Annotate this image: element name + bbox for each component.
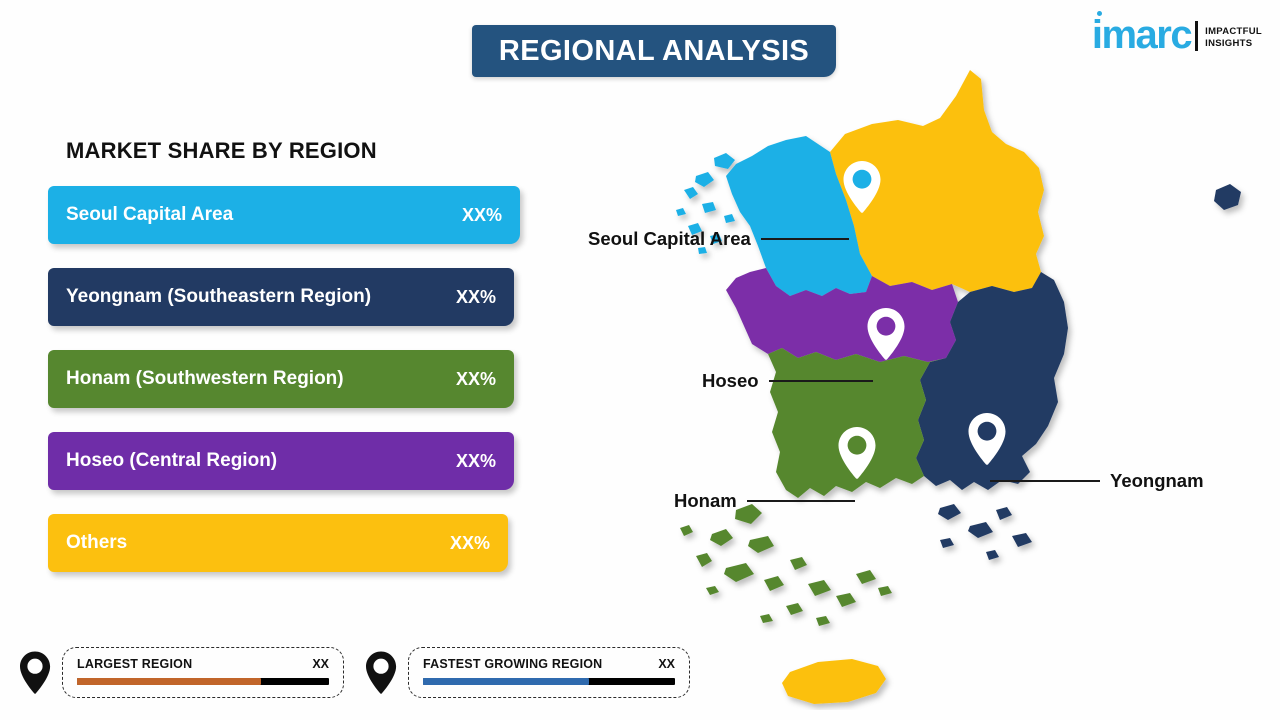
legend-fastest-fill [423, 678, 589, 685]
market-share-bar-label: Others [66, 532, 127, 554]
logo-tagline-line1: IMPACTFUL [1205, 26, 1262, 38]
market-share-bar[interactable]: Honam (Southwestern Region)XX% [48, 350, 514, 408]
callout-label-honam: Honam [674, 490, 737, 512]
market-share-bar[interactable]: Seoul Capital AreaXX% [48, 186, 520, 244]
market-share-bar-label: Hoseo (Central Region) [66, 450, 277, 472]
callout-label-hoseo: Hoseo [702, 370, 759, 392]
callout-leader-line [769, 380, 873, 382]
callout-honam: Honam [674, 490, 855, 512]
callout-label-seoul: Seoul Capital Area [588, 228, 751, 250]
legend-largest-region[interactable]: LARGEST REGION XX [18, 647, 344, 698]
market-share-bar[interactable]: Yeongnam (Southeastern Region)XX% [48, 268, 514, 326]
legend-largest-track [77, 678, 329, 685]
market-share-bar-value: XX% [456, 451, 496, 472]
map-region-jeju[interactable] [782, 659, 886, 704]
market-share-bar-value: XX% [456, 369, 496, 390]
map-island-ulleungdo[interactable] [1214, 184, 1241, 210]
market-share-bar-list: Seoul Capital AreaXX%Yeongnam (Southeast… [48, 186, 528, 596]
infographic-slide: REGIONAL ANALYSIS imarc IMPACTFUL INSIGH… [0, 0, 1280, 720]
callout-seoul-capital-area: Seoul Capital Area [588, 228, 849, 250]
legend-largest-fill [77, 678, 261, 685]
legend-fastest-title: FASTEST GROWING REGION [423, 657, 602, 671]
logo-dot-icon [1097, 11, 1102, 16]
legend-largest-title: LARGEST REGION [77, 657, 192, 671]
callout-leader-line [990, 480, 1100, 482]
market-share-bar[interactable]: OthersXX% [48, 514, 508, 572]
market-share-bar[interactable]: Hoseo (Central Region)XX% [48, 432, 514, 490]
map-islands-southwest-green [680, 504, 892, 626]
market-share-bar-value: XX% [462, 205, 502, 226]
market-share-bar-value: XX% [450, 533, 490, 554]
legend-fastest-track [423, 678, 675, 685]
market-share-heading: MARKET SHARE BY REGION [66, 138, 377, 164]
market-share-bar-value: XX% [456, 287, 496, 308]
legend-largest-value: XX [312, 657, 329, 671]
south-korea-map: Seoul Capital Area Hoseo Honam Yeongnam [640, 40, 1280, 710]
callout-yeongnam: Yeongnam [990, 470, 1204, 492]
map-pin-icon [364, 650, 398, 696]
map-pin-icon [18, 650, 52, 696]
callout-hoseo: Hoseo [702, 370, 873, 392]
callout-label-yeongnam: Yeongnam [1110, 470, 1204, 492]
market-share-bar-label: Honam (Southwestern Region) [66, 368, 344, 390]
map-islands-south-navy [938, 504, 1032, 560]
callout-leader-line [761, 238, 849, 240]
callout-leader-line [747, 500, 855, 502]
market-share-bar-label: Seoul Capital Area [66, 204, 233, 226]
legend-largest-box: LARGEST REGION XX [62, 647, 344, 698]
market-share-bar-label: Yeongnam (Southeastern Region) [66, 286, 371, 308]
